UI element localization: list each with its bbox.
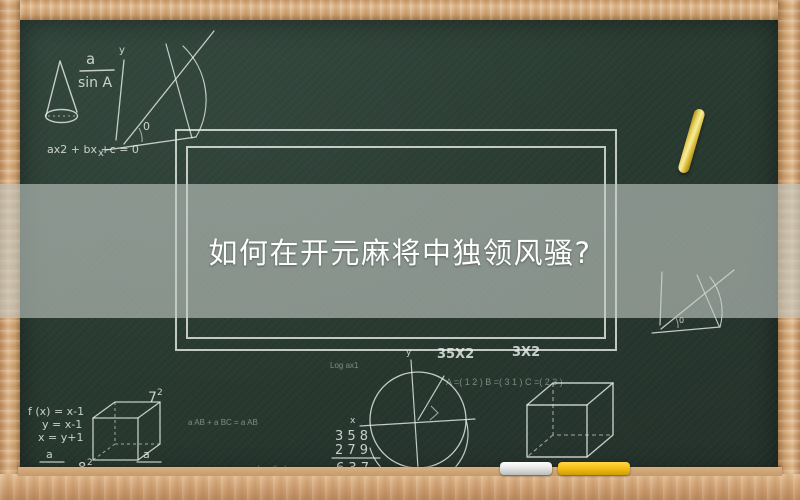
frame-top-rail — [0, 0, 800, 20]
chalk-sinA-denominator: sin A — [78, 75, 113, 91]
chalk-frac-a-2: a — [143, 448, 150, 461]
chalk-fx-line-2: y = x-1 — [42, 418, 82, 431]
chalk-cube-left — [93, 402, 160, 460]
frame-bottom-rail — [0, 474, 800, 500]
chalk-quadratic-equation: ax2 + bx +c = 0 — [47, 143, 139, 156]
chalk-cone-drawing — [46, 61, 78, 123]
blackboard-banner: a sin A y x 0 ax2 + bx +c = 0 f (x) = x-… — [0, 0, 800, 500]
chalk-tray — [18, 467, 782, 476]
tray-yellow-chalk-icon — [558, 462, 630, 475]
chalk-sum-row-1: 3 5 8 — [335, 429, 368, 444]
chalk-fx-line-3: x = y+1 — [38, 431, 83, 444]
chalk-fx-line-1: f (x) = x-1 — [28, 405, 84, 418]
page-title: 如何在开元麻将中独领风骚? — [209, 230, 592, 272]
chalk-seven-exponent: 2 — [157, 388, 163, 398]
chalk-seven: 7 — [148, 390, 157, 406]
title-overlay-band: 如何在开元麻将中独领风骚? — [0, 184, 800, 318]
chalk-matrix-row: A =( 1 2 ) B =( 3 1 ) C =( 2 3 ) — [446, 377, 563, 387]
chalk-frac-a-1: a — [46, 448, 53, 461]
chalk-sum-row-2: 2 7 9 — [335, 443, 368, 458]
chalk-sphere-axis-x: x — [350, 416, 356, 426]
chalk-axis-y-label: y — [119, 45, 125, 56]
chalk-function-lines: f (x) = x-1 y = x-1 x = y+1 — [28, 405, 84, 444]
chalk-cube-right — [527, 383, 613, 457]
chalk-segment-note: a AB + a BC = a AB — [188, 418, 258, 427]
chalk-log-label: Log ax1 — [330, 361, 359, 370]
board-eraser-icon — [500, 462, 552, 475]
chalk-formula-a-over-sinA: a sin A — [78, 50, 114, 91]
chalk-angle-label: 0 — [143, 120, 150, 133]
chalk-a-numerator: a — [86, 50, 95, 68]
chalk-sphere-axes: y x — [350, 348, 475, 475]
